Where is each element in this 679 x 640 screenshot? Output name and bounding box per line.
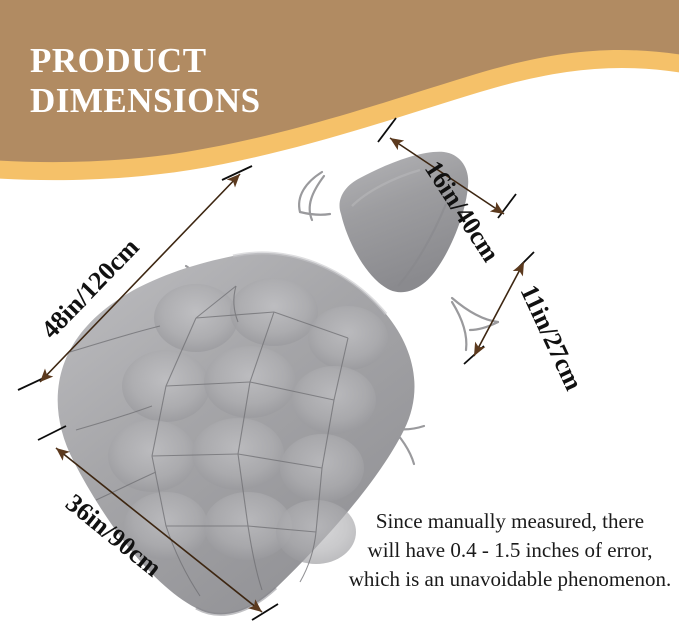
arrow-cushion-length [40, 174, 240, 382]
arrow-pillow-height [474, 262, 524, 356]
label-cushion-width: 36in/90cm [60, 488, 167, 583]
dimension-cushion-width: 36in/90cm [38, 426, 278, 620]
label-pillow-length: 16in/40cm [419, 155, 506, 267]
tick-cushion-width-top [38, 426, 66, 440]
product-dimensions-infographic: PRODUCT DIMENSIONS [0, 0, 679, 640]
label-pillow-height: 11in/27cm [515, 280, 589, 395]
disclaimer-line-3: which is an unavoidable phenomenon. [349, 567, 672, 591]
tick-pillow-length-top [378, 118, 396, 142]
disclaimer-line-2: will have 0.4 - 1.5 inches of error, [368, 538, 653, 562]
dimension-annotations: 48in/120cm 36in/90cm 16in/40cm 11in/27cm… [0, 0, 679, 640]
dimension-pillow-length: 16in/40cm [378, 118, 516, 267]
label-cushion-length: 48in/120cm [35, 232, 144, 344]
dimension-cushion-length: 48in/120cm [18, 166, 252, 390]
measurement-disclaimer: Since manually measured, there will have… [349, 509, 672, 591]
tick-pillow-length-bottom [498, 194, 516, 218]
dimension-pillow-height: 11in/27cm [464, 252, 589, 395]
tick-pillow-height-top [516, 252, 534, 270]
disclaimer-line-1: Since manually measured, there [376, 509, 644, 533]
